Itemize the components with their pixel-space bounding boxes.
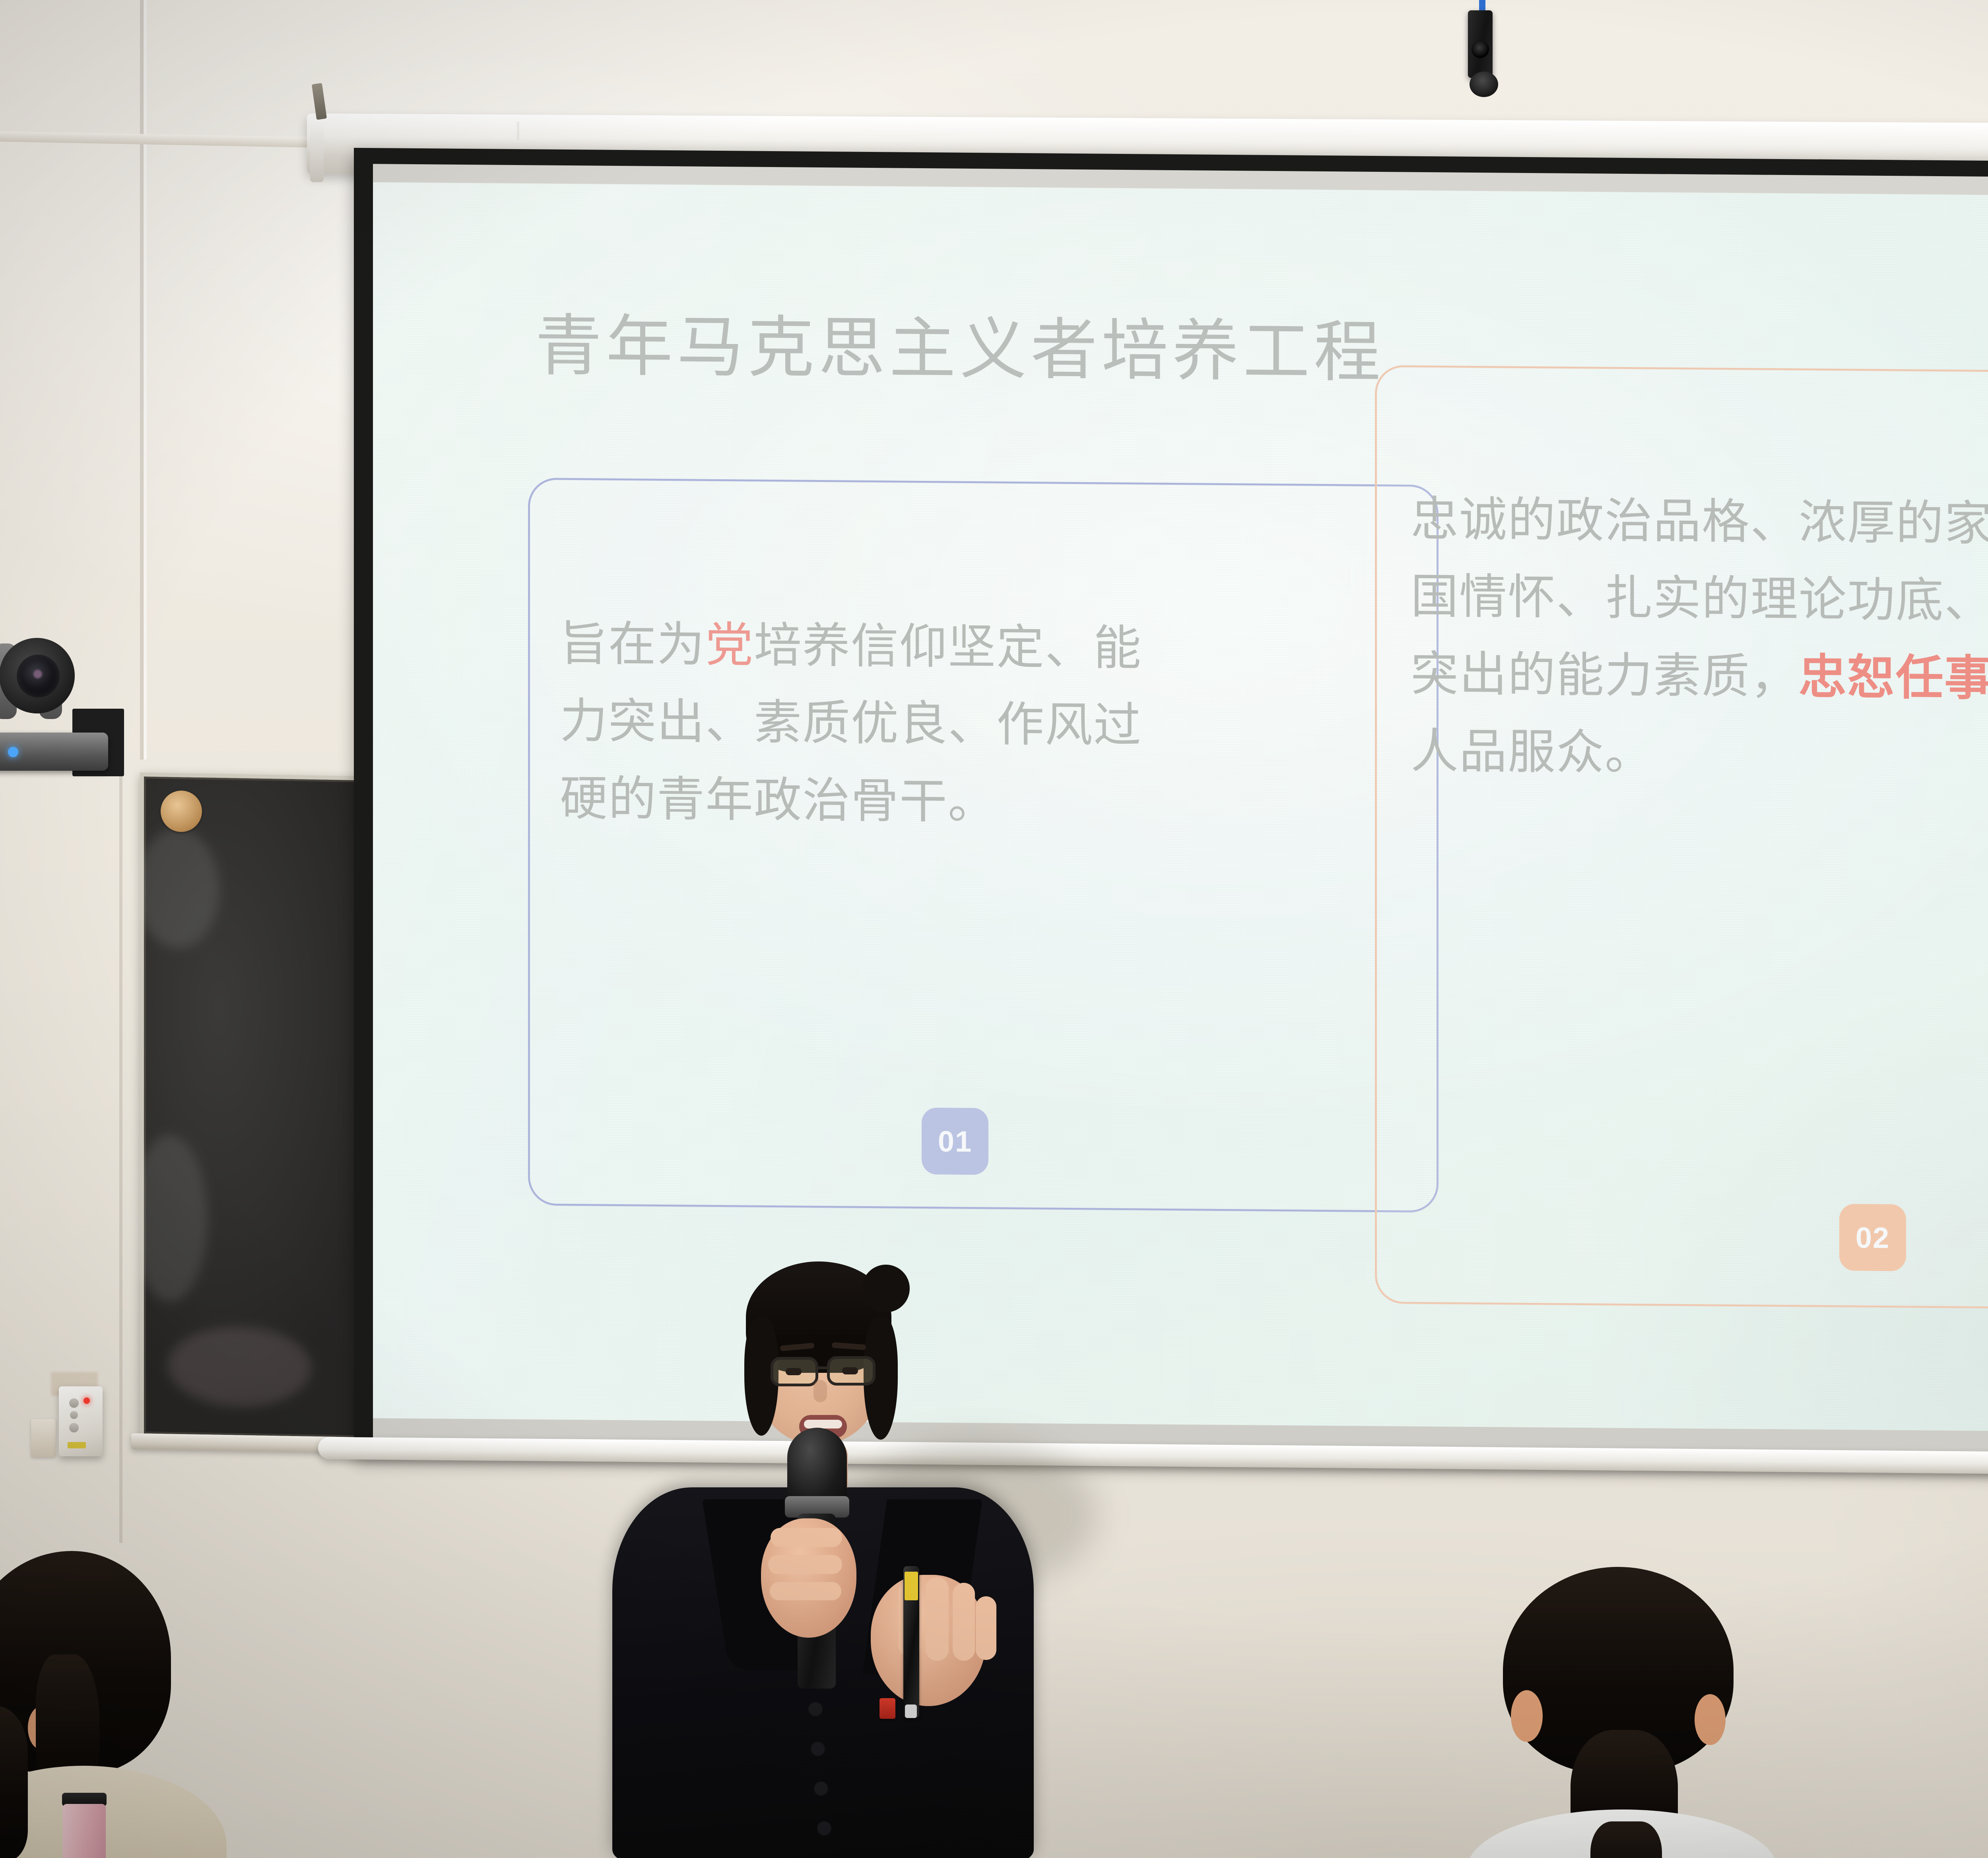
laser-pointer-tip	[905, 1704, 917, 1718]
presenter-finger	[976, 1596, 996, 1660]
presenter-teeth	[804, 1420, 842, 1428]
wall-seam-highlight-left	[144, 0, 147, 760]
switch-status-led	[83, 1397, 90, 1404]
ceiling-camera-lens-icon	[1472, 41, 1489, 58]
screen-down-button[interactable]	[69, 1423, 79, 1432]
coat-button	[811, 1742, 825, 1755]
chalk-smudge	[168, 1326, 311, 1408]
card-01-line-3: 硬的青年政治骨干。	[560, 760, 1411, 844]
camera-lens-reflection	[33, 670, 42, 678]
slide-title: 青年马克思主义者培养工程	[535, 292, 1384, 395]
card-01-line-1: 旨在为党培养信仰坚定、能	[560, 605, 1411, 689]
slide-card-02-text: 忠诚的政治品格、浓厚的家 国情怀、扎实的理论功底、 突出的能力素质，忠恕任事、 …	[1411, 481, 1988, 797]
audience-member-center	[1451, 1567, 1809, 1858]
card-02-line-1: 忠诚的政治品格、浓厚的家	[1411, 481, 1988, 565]
camera-head	[0, 638, 75, 713]
camera-lens-icon	[17, 655, 60, 698]
microphone-head	[787, 1428, 847, 1507]
wall-seam-left-lower	[119, 748, 122, 1543]
switch-brand-label	[68, 1442, 86, 1448]
thermos-bottle	[63, 1804, 106, 1858]
ptz-camera	[0, 601, 124, 768]
audience-ponytail-tail	[1590, 1821, 1662, 1858]
camera-base	[0, 733, 108, 771]
presenter-eye-right	[842, 1367, 858, 1374]
card-01-seg-highlight: 党	[705, 618, 754, 672]
classroom-photo: 青年马克思主义者培养工程 旨在为党培养信仰坚定、能 力突出、素质优良、作风过 硬…	[0, 0, 1988, 1858]
slide-card-01-text: 旨在为党培养信仰坚定、能 力突出、素质优良、作风过 硬的青年政治骨干。	[560, 605, 1411, 844]
eyeglasses-bridge	[817, 1366, 829, 1369]
party-emblem-pin	[879, 1698, 895, 1719]
audience-shoulder	[0, 1766, 227, 1858]
presenter-nose	[813, 1380, 827, 1402]
presenter-finger	[770, 1582, 841, 1600]
audience-ear	[1511, 1690, 1543, 1742]
presenter	[596, 1185, 1093, 1858]
chalk-smudge	[132, 1134, 208, 1302]
coat-button	[817, 1821, 831, 1835]
presenter-finger	[926, 1577, 949, 1661]
housing-seam	[517, 122, 519, 140]
card-02-line-2: 国情怀、扎实的理论功底、	[1411, 558, 1988, 642]
camera-power-led	[8, 747, 18, 757]
slide-card-01	[528, 478, 1439, 1213]
card-02-seg-highlight: 忠恕任事	[1799, 650, 1988, 705]
ceiling-camera	[1431, 0, 1551, 127]
card-02-seg-1: 突出的能力素质，	[1411, 647, 1799, 704]
screen-control-switch[interactable]	[59, 1386, 103, 1456]
laser-pointer-warning-label	[905, 1572, 918, 1600]
slide-badge-01: 01	[922, 1108, 988, 1175]
housing-end-left	[310, 119, 324, 182]
card-01-seg-1: 旨在为	[560, 617, 705, 672]
card-01-seg-3: 培养信仰坚定、能	[754, 619, 1142, 675]
audience-ear	[1695, 1694, 1726, 1745]
presenter-finger	[771, 1528, 842, 1547]
wall-seam-left	[140, 0, 144, 760]
wall-socket	[31, 1419, 56, 1457]
presenter-finger	[953, 1583, 975, 1661]
coat-button	[814, 1782, 828, 1795]
ceiling-camera-mount	[1470, 72, 1498, 97]
card-02-line-4: 人品服众。	[1411, 713, 1988, 797]
coat-button	[809, 1702, 822, 1716]
screen-stop-button[interactable]	[70, 1411, 78, 1419]
audience-member-left	[0, 1535, 266, 1858]
presenter-finger	[768, 1555, 842, 1574]
card-02-line-3: 突出的能力素质，忠恕任事、	[1411, 635, 1988, 719]
blackboard-sticker	[161, 791, 202, 832]
card-01-line-2: 力突出、素质优良、作风过	[560, 682, 1411, 766]
screen-up-button[interactable]	[69, 1398, 79, 1408]
presenter-hair-bun	[862, 1265, 910, 1312]
chalk-smudge	[136, 828, 219, 949]
presenter-eye-left	[786, 1368, 802, 1375]
slide-badge-02: 02	[1839, 1204, 1906, 1271]
